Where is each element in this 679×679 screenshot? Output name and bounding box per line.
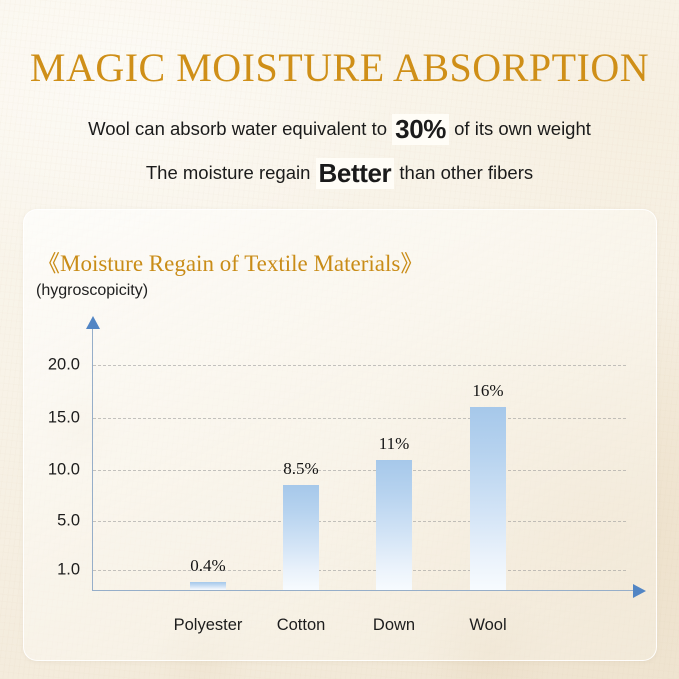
poster-canvas: MAGIC MOISTURE ABSORPTION Wool can absor… bbox=[0, 0, 679, 679]
bar-value-label: 16% bbox=[443, 381, 533, 401]
bar-chart-plot: 20.015.010.05.01.00.4%Polyester8.5%Cotto… bbox=[0, 0, 679, 679]
gridline bbox=[93, 365, 626, 366]
gridline bbox=[93, 521, 626, 522]
x-axis-line bbox=[92, 590, 635, 591]
bar-value-label: 0.4% bbox=[163, 556, 253, 576]
y-axis-tick-label: 15.0 bbox=[18, 409, 80, 428]
bar-value-label: 8.5% bbox=[256, 459, 346, 479]
bar bbox=[470, 407, 506, 590]
y-axis-tick-label: 20.0 bbox=[18, 356, 80, 375]
gridline bbox=[93, 470, 626, 471]
x-axis-arrow-icon bbox=[633, 584, 646, 598]
bar bbox=[283, 485, 319, 590]
y-axis-tick-label: 1.0 bbox=[18, 561, 80, 580]
x-axis-category-label: Wool bbox=[428, 616, 548, 635]
y-axis-tick-label: 10.0 bbox=[18, 461, 80, 480]
bar bbox=[376, 460, 412, 590]
y-axis-tick-label: 5.0 bbox=[18, 512, 80, 531]
bar bbox=[190, 582, 226, 590]
gridline bbox=[93, 418, 626, 419]
bar-value-label: 11% bbox=[349, 434, 439, 454]
y-axis-arrow-icon bbox=[86, 316, 100, 329]
